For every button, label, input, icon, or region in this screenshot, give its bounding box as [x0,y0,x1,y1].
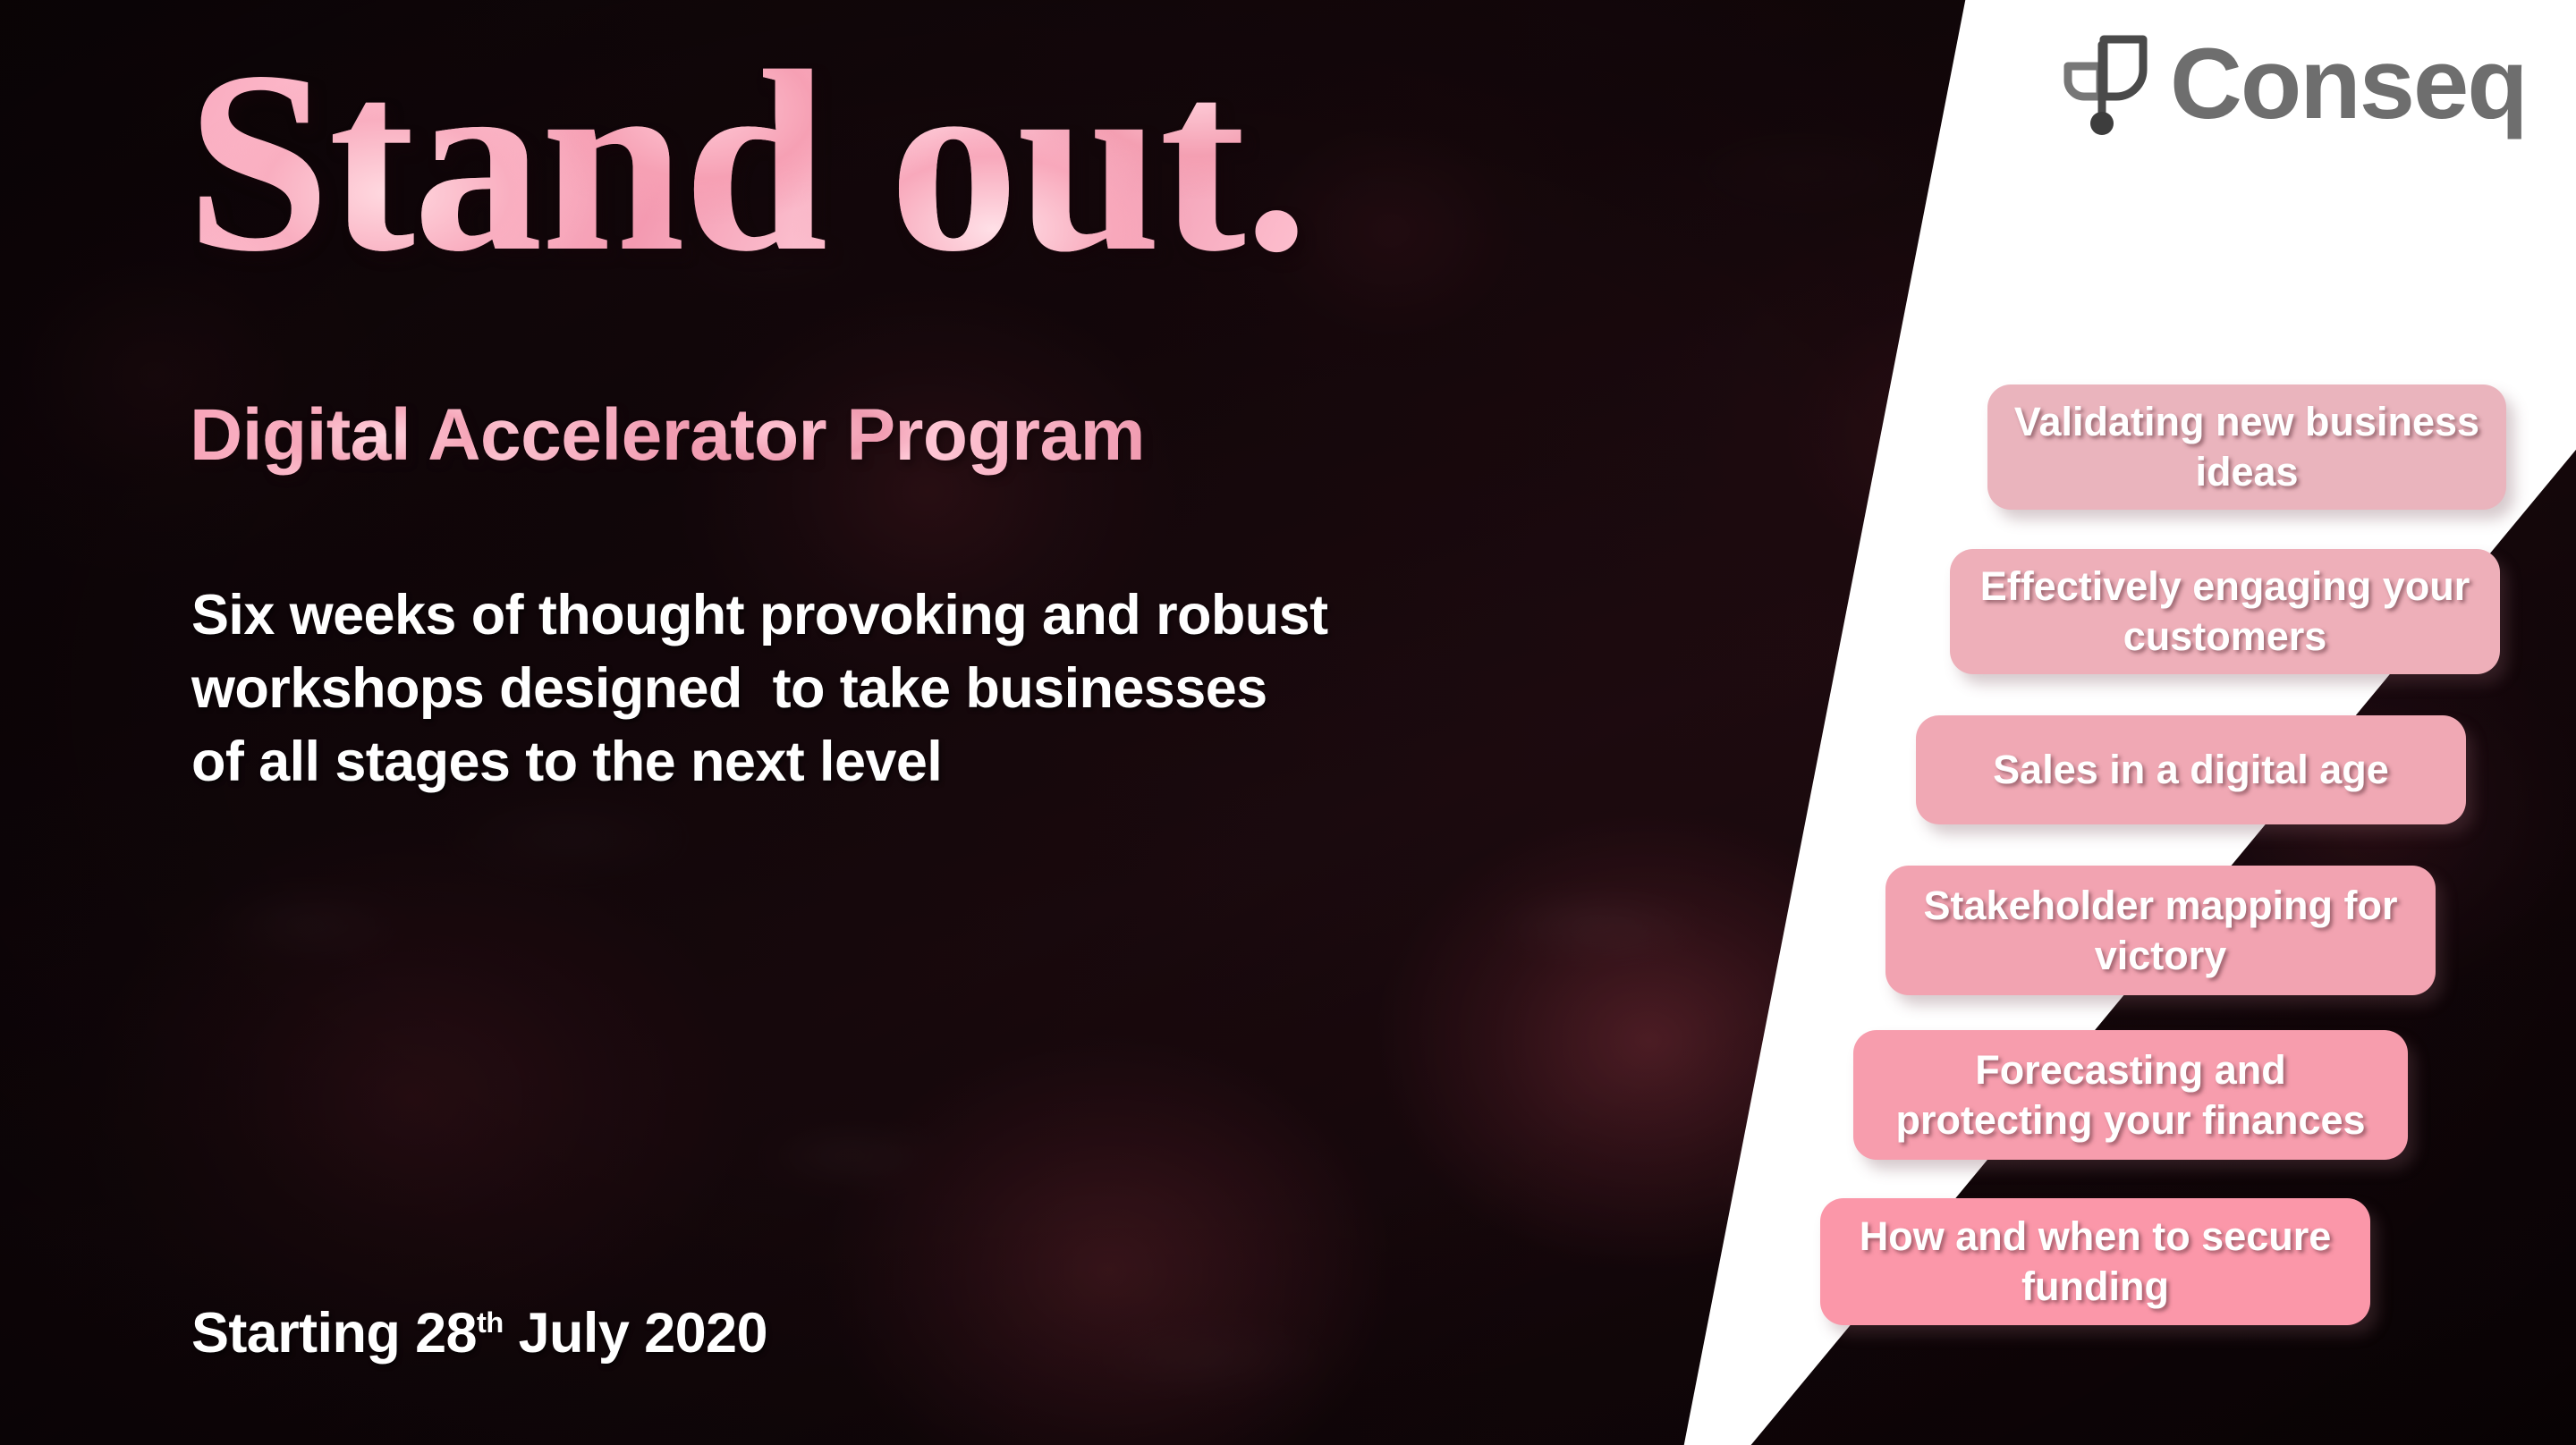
module-pill-5[interactable]: Forecasting and protecting your finances [1853,1030,2408,1160]
module-pill-4[interactable]: Stakeholder mapping for victory [1885,866,2436,995]
brand-logo[interactable]: Conseq [2057,30,2527,138]
module-label: Validating new business ideas [2011,397,2483,497]
program-subtitle: Digital Accelerator Program [190,393,1145,477]
page-title: Stand out. [186,32,1307,292]
start-date-suffix: July 2020 [504,1302,767,1365]
module-pill-6[interactable]: How and when to secure funding [1820,1198,2370,1325]
module-pill-3[interactable]: Sales in a digital age [1916,715,2466,824]
start-date: Starting 28th July 2020 [191,1301,767,1365]
module-label: Effectively engaging your customers [1973,562,2477,662]
module-label: Forecasting and protecting your finances [1877,1045,2385,1145]
module-pill-2[interactable]: Effectively engaging your customers [1950,549,2500,674]
brand-name: Conseq [2170,34,2527,134]
module-label: How and when to secure funding [1843,1212,2347,1312]
module-pill-1[interactable]: Validating new business ideas [1987,384,2506,510]
module-label: Sales in a digital age [1993,745,2389,795]
left-content-area: Stand out. Digital Accelerator Program S… [0,0,1789,1445]
sprout-leaf-icon [2057,30,2157,138]
promo-poster: Stand out. Digital Accelerator Program S… [0,0,2576,1445]
start-date-ordinal: th [477,1306,504,1339]
module-label: Stakeholder mapping for victory [1909,881,2412,981]
start-date-prefix: Starting 28 [191,1302,477,1365]
program-description: Six weeks of thought provoking and robus… [191,579,1327,799]
